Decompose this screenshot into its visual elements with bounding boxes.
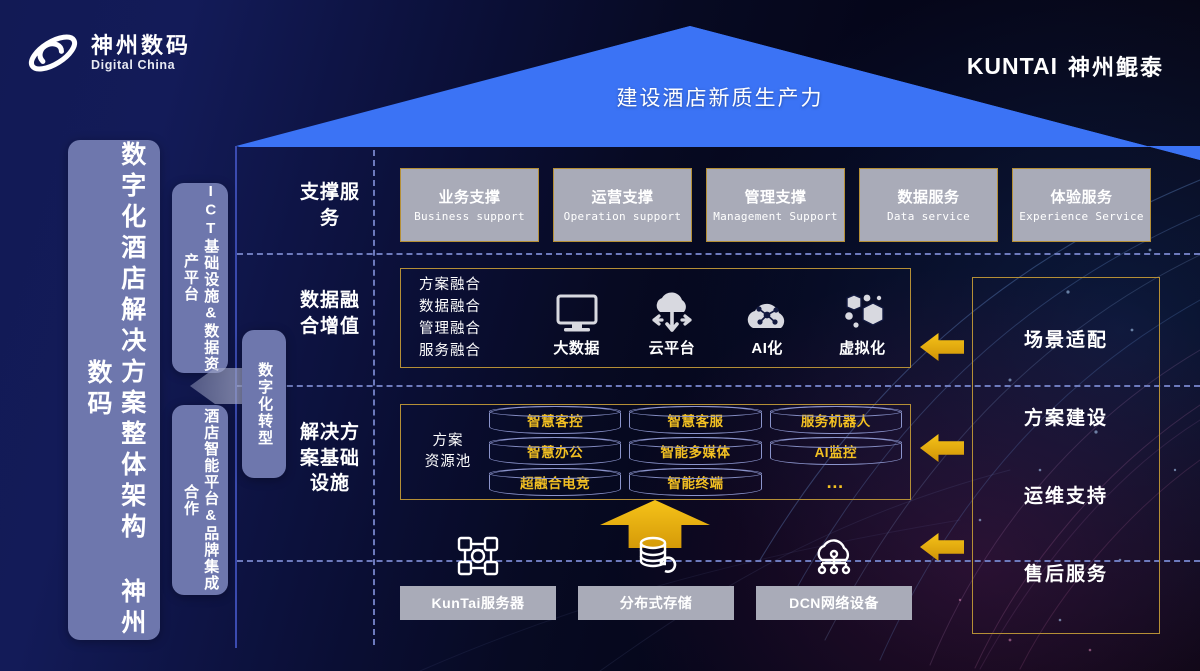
server-cluster-icon	[455, 532, 501, 580]
fusion-item-label: AI化	[751, 337, 783, 358]
support-card-cn: 体验服务	[1050, 186, 1112, 207]
fusion-keywords: 方案融合 数据融合 管理融合 服务融合	[401, 274, 529, 362]
kuntai-logo: KUNTAI 神州鲲泰	[967, 50, 1164, 82]
fusion-item[interactable]: 大数据	[535, 292, 619, 358]
support-card-cn: 运营支撑	[591, 186, 653, 207]
infrastructure-item[interactable]: 分布式存储	[578, 532, 734, 620]
ai-cloud-icon	[742, 292, 792, 334]
support-card-en: Business support	[414, 210, 525, 224]
resource-pool-item[interactable]: 智慧客控	[489, 406, 621, 434]
ict-platform-panel[interactable]: ICT基础设施&数据资产平台	[172, 183, 228, 373]
logo-text-cn: 神州数码	[91, 34, 191, 58]
monitor-icon	[555, 292, 599, 334]
resource-pool-item[interactable]: 智能终端	[629, 468, 761, 496]
support-card[interactable]: 管理支撑 Management Support	[706, 168, 845, 242]
support-card-cn: 管理支撑	[744, 186, 806, 207]
resource-pool-item[interactable]: 超融合电竞	[489, 468, 621, 496]
infrastructure-label: KunTai服务器	[400, 586, 556, 620]
service-item-scenario[interactable]: 场景适配	[1024, 325, 1108, 352]
resource-pool-more-indicator: …	[770, 468, 902, 496]
digital-transformation-panel[interactable]: 数字化转型	[242, 330, 286, 478]
support-card[interactable]: 业务支撑 Business support	[400, 168, 539, 242]
infrastructure-label: 分布式存储	[578, 586, 734, 620]
resource-pool-item[interactable]: 智慧客服	[629, 406, 761, 434]
fusion-item-label: 云平台	[649, 337, 696, 358]
digital-transformation-label: 数字化转型	[254, 362, 274, 447]
slide-canvas: 建设酒店新质生产力 神州数码 Digital China KUNTAI 神州鲲泰…	[0, 0, 1200, 671]
fusion-item[interactable]: 云平台	[630, 292, 714, 358]
cubes-icon	[839, 292, 885, 334]
solution-resource-pool-box: 方案 资源池 智慧客控 智慧客服 服务机器人 智慧办公 智能多媒体 AI监控 超…	[400, 404, 911, 500]
support-card-en: Management Support	[713, 210, 838, 224]
support-card-cn: 数据服务	[897, 186, 959, 207]
resource-pool-item[interactable]: 服务机器人	[770, 406, 902, 434]
support-card-cn: 业务支撑	[438, 186, 500, 207]
kuntai-logo-en: KUNTAI	[967, 53, 1058, 80]
architecture-title-panel: 数字化酒店解决方案整体架构 神州数码	[68, 140, 160, 640]
digital-china-logo: 神州数码 Digital China	[26, 26, 191, 80]
support-card[interactable]: 数据服务 Data service	[859, 168, 998, 242]
architecture-title-text: 数字化酒店解决方案整体架构 神州数码	[80, 140, 148, 640]
support-card-en: Data service	[887, 210, 970, 224]
row-label-support: 支撑服务	[292, 180, 368, 231]
network-cloud-icon	[810, 532, 858, 580]
row-label-solution: 解决方案基础设施	[292, 420, 368, 497]
resource-pool-grid: 智慧客控 智慧客服 服务机器人 智慧办公 智能多媒体 AI监控 超融合电竞 智能…	[487, 404, 910, 500]
database-sync-icon	[634, 532, 678, 580]
vertical-divider	[373, 150, 375, 645]
infrastructure-label: DCN网络设备	[756, 586, 912, 620]
support-card[interactable]: 体验服务 Experience Service	[1012, 168, 1151, 242]
data-fusion-box: 方案融合 数据融合 管理融合 服务融合 大数据 云平台 AI化	[400, 268, 911, 368]
service-item-aftersales[interactable]: 售后服务	[1024, 559, 1108, 586]
fusion-item-label: 大数据	[553, 337, 600, 358]
fusion-item[interactable]: 虚拟化	[820, 292, 904, 358]
infrastructure-item[interactable]: KunTai服务器	[400, 532, 556, 620]
services-panel: 场景适配 方案建设 运维支持 售后服务	[972, 277, 1160, 634]
swoosh-icon	[26, 26, 80, 80]
resource-pool-item[interactable]: 智慧办公	[489, 437, 621, 465]
support-services-row: 业务支撑 Business support 运营支撑 Operation sup…	[400, 168, 1151, 242]
fusion-item-label: 虚拟化	[839, 337, 886, 358]
resource-pool-title: 方案 资源池	[409, 431, 487, 472]
support-card[interactable]: 运营支撑 Operation support	[553, 168, 692, 242]
resource-pool-item[interactable]: AI监控	[770, 437, 902, 465]
cloud-arrows-icon	[648, 292, 696, 334]
support-card-en: Operation support	[564, 210, 682, 224]
infrastructure-row: KunTai服务器 分布式存储 DCN网络设备	[400, 532, 912, 620]
service-item-solution[interactable]: 方案建设	[1024, 403, 1108, 430]
row-divider-1	[237, 253, 1200, 255]
hotel-platform-label: 酒店智能平台&品牌集成合作	[180, 405, 221, 595]
support-card-en: Experience Service	[1019, 210, 1144, 224]
service-item-ops[interactable]: 运维支持	[1024, 481, 1108, 508]
infrastructure-item[interactable]: DCN网络设备	[756, 532, 912, 620]
kuntai-logo-cn: 神州鲲泰	[1068, 50, 1164, 82]
logo-text-en: Digital China	[91, 58, 191, 72]
ict-platform-label: ICT基础设施&数据资产平台	[180, 183, 221, 373]
roof-title: 建设酒店新质生产力	[560, 82, 880, 112]
resource-pool-item[interactable]: 智能多媒体	[629, 437, 761, 465]
fusion-icon-group: 大数据 云平台 AI化 虚拟化	[529, 269, 910, 367]
hotel-platform-panel[interactable]: 酒店智能平台&品牌集成合作	[172, 405, 228, 595]
row-label-data-fusion: 数据融合增值	[292, 288, 368, 339]
fusion-item[interactable]: AI化	[725, 292, 809, 358]
